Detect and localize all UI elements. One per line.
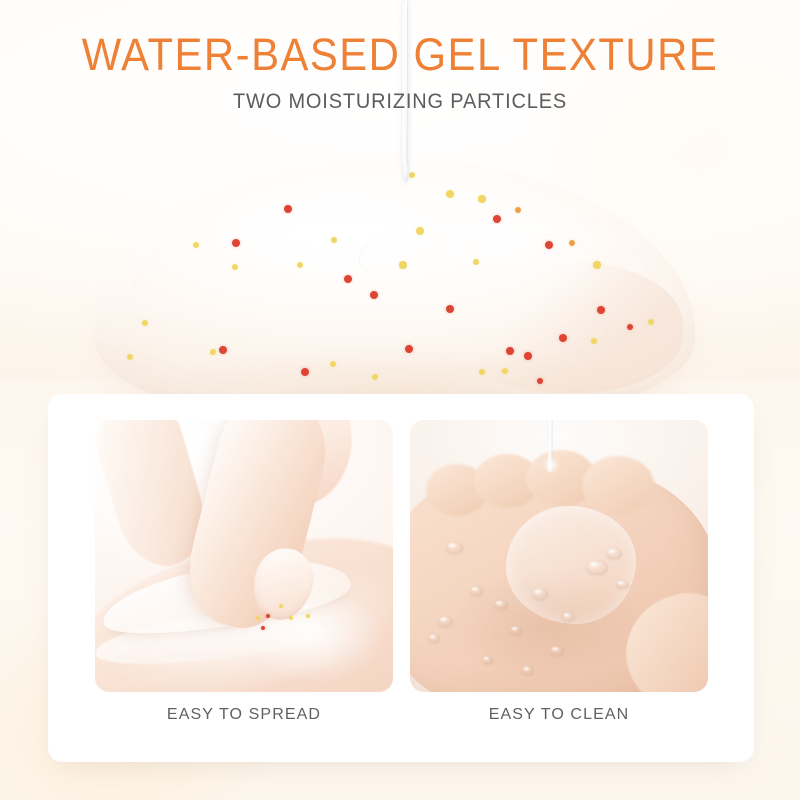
gel-particle-14 (344, 275, 352, 283)
gel-particle-25 (330, 361, 337, 368)
gel-particle-11 (331, 237, 337, 243)
gel-particle-6 (493, 215, 501, 223)
comparison-card: EASY TO SPREAD EASY TO CLEAN (48, 394, 754, 762)
gel-particle-17 (370, 291, 378, 299)
gel-particle-22 (559, 334, 567, 342)
gel-particle-12 (232, 264, 239, 271)
gel-particle-0 (284, 205, 292, 213)
gel-particle-33 (219, 346, 227, 354)
water-droplet-5 (510, 626, 522, 635)
water-droplet-6 (532, 588, 548, 600)
water-droplet-11 (616, 580, 629, 589)
panel-easy-to-clean[interactable] (410, 420, 708, 692)
gel-particle-10 (193, 242, 200, 249)
gel-particle-36 (537, 378, 544, 385)
gel-particle-23 (142, 320, 149, 327)
gel-particle-27 (479, 369, 485, 375)
spread-particle-2 (256, 616, 260, 620)
water-droplet-1 (470, 586, 483, 596)
water-droplet-10 (606, 548, 622, 559)
panel-easy-to-spread[interactable] (95, 420, 393, 692)
comparison-panels: EASY TO SPREAD EASY TO CLEAN (48, 394, 754, 762)
page-subtitle: TWO MOISTURIZING PARTICLES (20, 90, 780, 114)
gel-particle-34 (301, 368, 309, 376)
water-droplet-13 (482, 656, 493, 664)
spread-particle-4 (306, 614, 310, 618)
gel-particle-13 (297, 262, 304, 269)
spread-particle-0 (279, 604, 283, 608)
caption-easy-to-clean: EASY TO CLEAN (410, 706, 708, 724)
caption-easy-to-spread: EASY TO SPREAD (95, 706, 393, 724)
spread-particle-layer (95, 420, 393, 692)
gel-particle-29 (506, 347, 514, 355)
water-droplet-7 (562, 612, 575, 622)
gel-particle-15 (399, 261, 406, 268)
spread-particle-3 (289, 616, 293, 620)
water-droplet-2 (438, 616, 453, 627)
gel-particle-16 (473, 259, 479, 265)
water-droplet-8 (550, 646, 564, 656)
gel-particle-35 (591, 338, 598, 345)
gel-particle-30 (405, 345, 413, 353)
gel-particle-28 (502, 368, 509, 375)
gel-particle-1 (232, 239, 240, 247)
gel-particle-8 (545, 241, 553, 249)
spread-photo (95, 420, 393, 692)
gel-particle-26 (372, 374, 379, 381)
marketing-page: WATER-BASED GEL TEXTURE TWO MOISTURIZING… (0, 0, 800, 800)
gel-particle-4 (478, 195, 485, 202)
spread-particle-1 (266, 614, 270, 618)
water-droplet-0 (446, 542, 463, 554)
gel-particle-2 (409, 172, 416, 179)
gel-particle-37 (593, 261, 600, 268)
clean-photo (410, 420, 708, 692)
gel-particle-9 (569, 240, 576, 247)
gel-particle-5 (515, 207, 522, 214)
page-title: WATER-BASED GEL TEXTURE (28, 30, 772, 80)
gel-particle-7 (416, 227, 424, 235)
water-droplet-9 (586, 560, 608, 575)
spread-particle-5 (261, 626, 265, 630)
water-droplet-3 (428, 634, 440, 643)
gel-particle-20 (627, 324, 634, 331)
gel-particle-19 (597, 306, 605, 314)
gel-particle-32 (127, 354, 134, 361)
water-droplet-12 (522, 666, 534, 675)
water-droplet-4 (494, 600, 508, 610)
gel-particle-31 (524, 352, 532, 360)
water-droplet-layer (410, 420, 708, 692)
gel-particle-3 (446, 190, 454, 198)
gel-particle-24 (210, 349, 217, 356)
gel-particle-18 (446, 305, 454, 313)
gel-particle-21 (648, 319, 655, 326)
headline-block: WATER-BASED GEL TEXTURE TWO MOISTURIZING… (0, 30, 800, 114)
